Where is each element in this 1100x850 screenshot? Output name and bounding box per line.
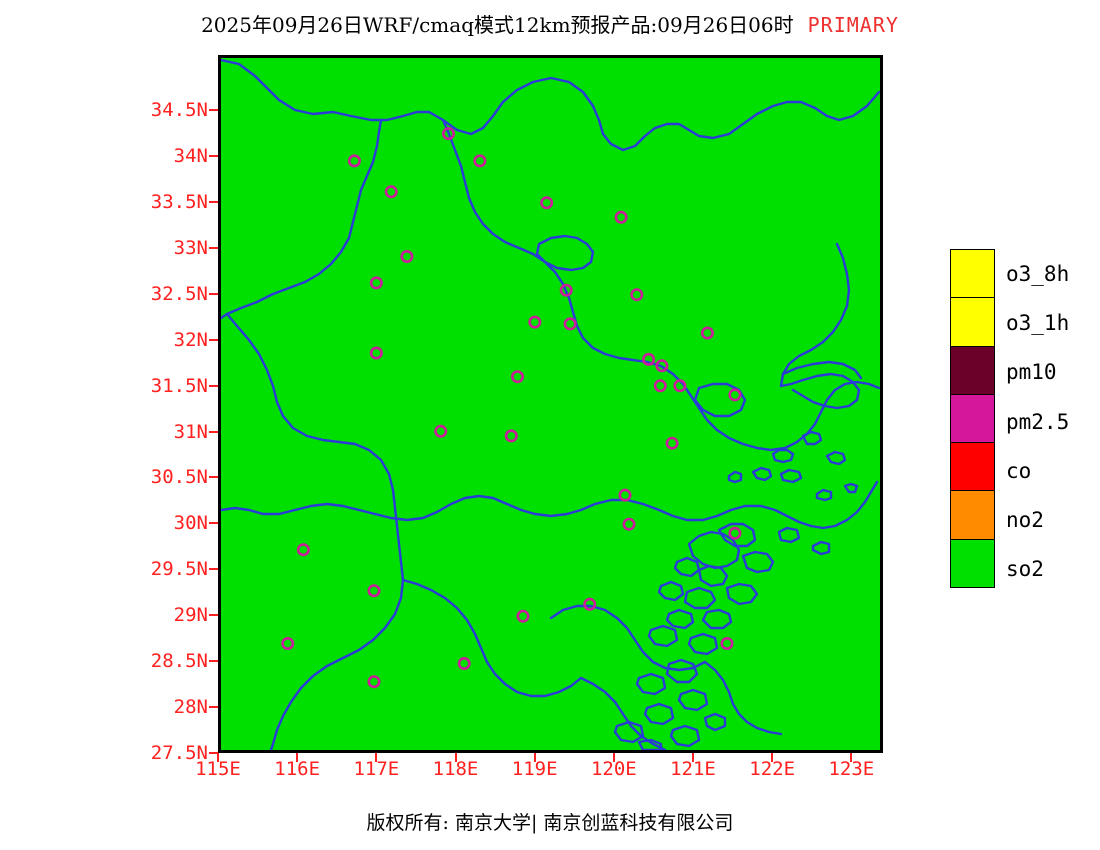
- legend-item-no2[interactable]: no2: [950, 495, 1095, 544]
- legend-item-label: o3_8h: [1006, 262, 1069, 286]
- copyright-footer: 版权所有: 南京大学| 南京创蓝科技有限公司: [0, 808, 1100, 835]
- x-axis-tick-mark: [375, 753, 377, 762]
- legend-item-label: pm2.5: [1006, 410, 1069, 434]
- legend-color-swatch: [950, 346, 995, 395]
- legend-color-swatch: [950, 490, 995, 539]
- legend-color-swatch: [950, 249, 995, 298]
- x-axis-tick-mark: [455, 753, 457, 762]
- legend-color-swatch: [950, 539, 995, 588]
- figure-root: 2025年09月26日WRF/cmaq模式12km预报产品:09月26日06时P…: [0, 0, 1100, 850]
- legend-item-pm2-5[interactable]: pm2.5: [950, 397, 1095, 446]
- legend-item-label: no2: [1006, 508, 1044, 532]
- legend-item-so2[interactable]: so2: [950, 545, 1095, 594]
- legend-item-label: o3_1h: [1006, 311, 1069, 335]
- x-axis-tick-mark: [534, 753, 536, 762]
- legend-item-label: pm10: [1006, 360, 1057, 384]
- legend-color-swatch: [950, 394, 995, 443]
- pollutant-legend[interactable]: o3_8ho3_1hpm10pm2.5cono2so2: [950, 249, 1095, 594]
- x-axis-tick-mark: [771, 753, 773, 762]
- x-axis-tick-mark: [692, 753, 694, 762]
- x-axis-tick-mark: [850, 753, 852, 762]
- legend-color-swatch: [950, 297, 995, 346]
- x-axis-tick-mark: [217, 753, 219, 762]
- x-axis-labels: 115E116E117E118E119E120E121E122E123E: [0, 0, 1100, 850]
- legend-color-swatch: [950, 442, 995, 491]
- legend-item-o3-8h[interactable]: o3_8h: [950, 249, 1095, 298]
- legend-item-co[interactable]: co: [950, 446, 1095, 495]
- x-axis-tick-mark: [296, 753, 298, 762]
- legend-item-label: so2: [1006, 557, 1044, 581]
- x-axis-tick-mark: [613, 753, 615, 762]
- legend-item-pm10[interactable]: pm10: [950, 348, 1095, 397]
- legend-item-label: co: [1006, 459, 1031, 483]
- legend-item-o3-1h[interactable]: o3_1h: [950, 298, 1095, 347]
